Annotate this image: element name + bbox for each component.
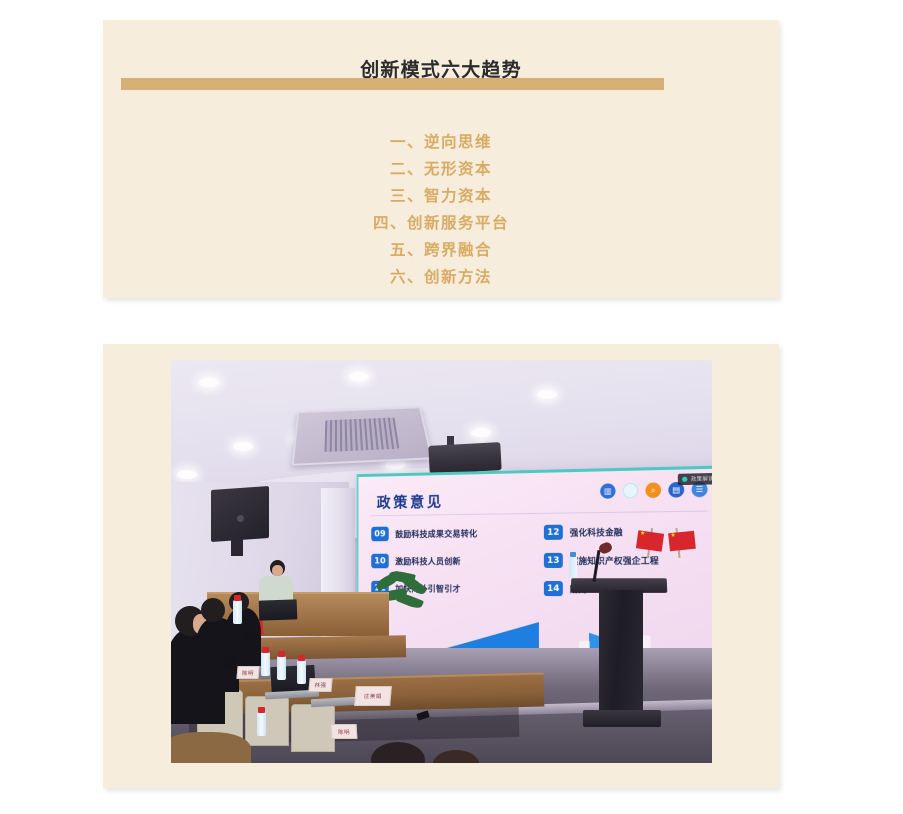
projector-mount — [428, 442, 501, 474]
item-number-badge: 10 — [371, 554, 388, 569]
photo-card: 政策意见 ▥ ⌕ ▤ ☰ 09 鼓励科技成果交易转化 — [103, 344, 779, 788]
page-root: 创新模式六大趋势 一、逆向思维 二、无形资本 三、智力资本 四、创新服务平台 五… — [0, 0, 903, 814]
ceiling-downlight — [471, 428, 491, 437]
ceiling-downlight — [233, 442, 253, 451]
water-bottle — [297, 660, 306, 684]
name-card: 陈明 — [236, 666, 259, 679]
name-card-label: 林强 — [314, 681, 327, 689]
slide-list-item: 09 鼓励科技成果交易转化 — [371, 525, 530, 541]
item-label: 强化科技金融 — [570, 526, 623, 539]
ceiling-downlight — [177, 470, 197, 479]
page-title: 创新模式六大趋势 — [103, 61, 779, 80]
name-card: 陈明 — [331, 724, 358, 739]
plant-leaf — [396, 591, 424, 610]
chair — [245, 696, 289, 746]
item-number-badge: 12 — [544, 525, 563, 540]
water-bottle — [569, 556, 577, 578]
circle-icon — [623, 483, 638, 499]
slide-title: 政策意见 — [377, 491, 444, 513]
ceiling-downlight — [349, 372, 369, 381]
trends-title-block: 创新模式六大趋势 — [103, 20, 779, 106]
item-number-badge: 14 — [544, 581, 563, 596]
name-card: 林强 — [308, 678, 332, 692]
podium-body — [599, 590, 643, 715]
presenter-face — [272, 565, 283, 576]
item-label: 激励科技人员创新 — [395, 555, 461, 567]
chair — [291, 704, 335, 752]
air-conditioner-icon — [291, 407, 433, 466]
trend-item-3[interactable]: 三、智力资本 — [103, 183, 779, 210]
item-label: 鼓励科技成果交易转化 — [395, 527, 477, 540]
ceiling-downlight — [199, 378, 219, 387]
search-icon: ⌕ — [645, 482, 661, 498]
item-label: 实施知识产权强企工程 — [570, 554, 659, 567]
trends-card: 创新模式六大趋势 一、逆向思维 二、无形资本 三、智力资本 四、创新服务平台 五… — [103, 20, 779, 298]
trend-item-4[interactable]: 四、创新服务平台 — [103, 210, 779, 237]
audience-head — [201, 598, 225, 622]
speaker-mount — [231, 538, 243, 556]
trends-list: 一、逆向思维 二、无形资本 三、智力资本 四、创新服务平台 五、跨界融合 六、创… — [103, 129, 779, 291]
name-card-label: 陈明 — [242, 669, 255, 677]
bar-chart-icon: ▥ — [600, 483, 615, 499]
ceiling-downlight — [537, 390, 557, 399]
presentation-hud[interactable]: 政策解读 — [678, 473, 712, 485]
chinese-flag-icon — [636, 530, 664, 551]
chinese-flag-icon — [668, 531, 696, 552]
conference-room-photo: 政策意见 ▥ ⌕ ▤ ☰ 09 鼓励科技成果交易转化 — [171, 360, 712, 763]
water-bottle — [233, 600, 242, 624]
item-number-badge: 13 — [544, 553, 563, 568]
name-card-label: 庄美娟 — [364, 692, 383, 700]
trend-item-6[interactable]: 六、创新方法 — [103, 264, 779, 291]
hud-label: 政策解读 — [691, 475, 712, 483]
trend-item-2[interactable]: 二、无形资本 — [103, 156, 779, 183]
water-bottle — [277, 656, 286, 680]
water-bottle — [257, 712, 266, 736]
podium-base — [583, 710, 661, 727]
name-card: 庄美娟 — [354, 686, 392, 706]
trend-item-1[interactable]: 一、逆向思维 — [103, 129, 779, 156]
wall-speaker-icon — [211, 486, 269, 542]
foreground-desk — [171, 732, 251, 763]
status-dot-icon — [682, 477, 687, 482]
name-card-label: 陈明 — [338, 728, 350, 736]
water-bottle — [261, 652, 270, 676]
ac-grill — [325, 417, 400, 452]
laptop — [259, 599, 298, 620]
item-number-badge: 09 — [371, 527, 388, 542]
trend-item-5[interactable]: 五、跨界融合 — [103, 237, 779, 264]
slide-list-item: 10 激励科技人员创新 — [371, 553, 530, 568]
ceiling-downlight — [385, 460, 405, 469]
